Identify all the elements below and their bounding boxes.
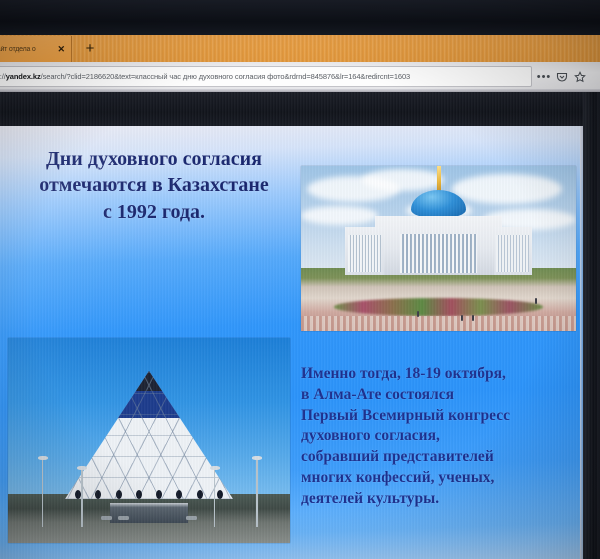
- pedestrian: [535, 298, 537, 304]
- url-address-bar[interactable]: ps://yandex.kz/search/?clid=2186620&text…: [0, 66, 532, 87]
- parked-car: [101, 516, 112, 520]
- monitor-bezel-band: [0, 92, 600, 129]
- tab-close-icon[interactable]: ✕: [57, 44, 65, 55]
- street-lamp: [42, 459, 44, 527]
- cloud: [362, 169, 445, 190]
- cloud: [452, 174, 562, 204]
- palace-paving: [301, 316, 576, 331]
- pyramid-window: [75, 490, 81, 499]
- palace-colonnade: [400, 234, 477, 274]
- palace-of-peace-pyramid-photo: [8, 338, 290, 543]
- url-domain: yandex.kz: [6, 72, 41, 81]
- body-line-6: многих конфессий, ученых,: [301, 468, 579, 489]
- pyramid-window: [95, 490, 101, 499]
- ak-orda-presidential-palace-photo: [301, 166, 576, 331]
- slide-title: Дни духовного согласия отмечаются в Каза…: [8, 146, 300, 225]
- body-line-2: в Алма-Ате состоялся: [301, 385, 579, 406]
- palace-flower-parterre: [334, 298, 543, 316]
- monitor-bezel-top: [0, 0, 600, 36]
- body-line-3: Первый Всемирный конгресс: [301, 406, 579, 427]
- slide-title-line-3: с 1992 года.: [8, 199, 300, 225]
- meatball-menu-icon[interactable]: •••: [536, 69, 552, 85]
- parked-car: [118, 516, 129, 520]
- parked-car: [186, 516, 197, 520]
- browser-chrome: й сайт отдела о ✕ + ps://yandex.kz/searc…: [0, 35, 600, 92]
- pyramid-window: [156, 490, 162, 499]
- body-line-5: собравший представителей: [301, 447, 579, 468]
- tab-strip: й сайт отдела о ✕ +: [0, 35, 600, 62]
- slide-title-line-1: Дни духовного согласия: [8, 146, 300, 172]
- street-lamp: [214, 469, 216, 526]
- pedestrian: [472, 315, 474, 321]
- pyramid-window: [136, 490, 142, 499]
- pedestrian: [461, 315, 463, 321]
- body-line-1: Именно тогда, 18-19 октября,: [301, 364, 579, 385]
- pyramid-window: [116, 490, 122, 499]
- pyramid-window: [217, 490, 223, 499]
- browser-tab[interactable]: й сайт отдела о ✕: [0, 36, 72, 62]
- body-line-4: духовного согласия,: [301, 426, 579, 447]
- pedestrian: [417, 311, 419, 317]
- monitor-bezel-right: [583, 92, 600, 559]
- presentation-slide: Дни духовного согласия отмечаются в Каза…: [0, 126, 584, 559]
- bookmark-star-icon[interactable]: [572, 69, 588, 85]
- pocket-icon[interactable]: [554, 69, 570, 85]
- pyramid-window: [197, 490, 203, 499]
- url-text: ps://yandex.kz/search/?clid=2186620&text…: [0, 72, 410, 81]
- street-lamp: [81, 469, 83, 526]
- photo-of-monitor: й сайт отдела о ✕ + ps://yandex.kz/searc…: [0, 0, 600, 559]
- slide-title-line-2: отмечаются в Казахстане: [8, 172, 300, 198]
- new-tab-button[interactable]: +: [80, 39, 100, 59]
- tab-title: й сайт отдела о: [0, 46, 54, 53]
- pyramid-window: [176, 490, 182, 499]
- url-path: /search/?clid=2186620&text=классный час …: [41, 72, 410, 81]
- street-lamp: [256, 459, 258, 527]
- palace-left-columns: [348, 235, 381, 271]
- palace-right-columns: [496, 235, 529, 271]
- navigation-toolbar: ps://yandex.kz/search/?clid=2186620&text…: [0, 62, 600, 92]
- pyramid-window-row: [75, 490, 223, 499]
- palace-spire: [437, 166, 441, 192]
- monitor-edge-right: [580, 126, 583, 559]
- slide-body-text: Именно тогда, 18-19 октября, в Алма-Ате …: [301, 364, 579, 509]
- body-line-7: деятелей культуры.: [301, 489, 579, 510]
